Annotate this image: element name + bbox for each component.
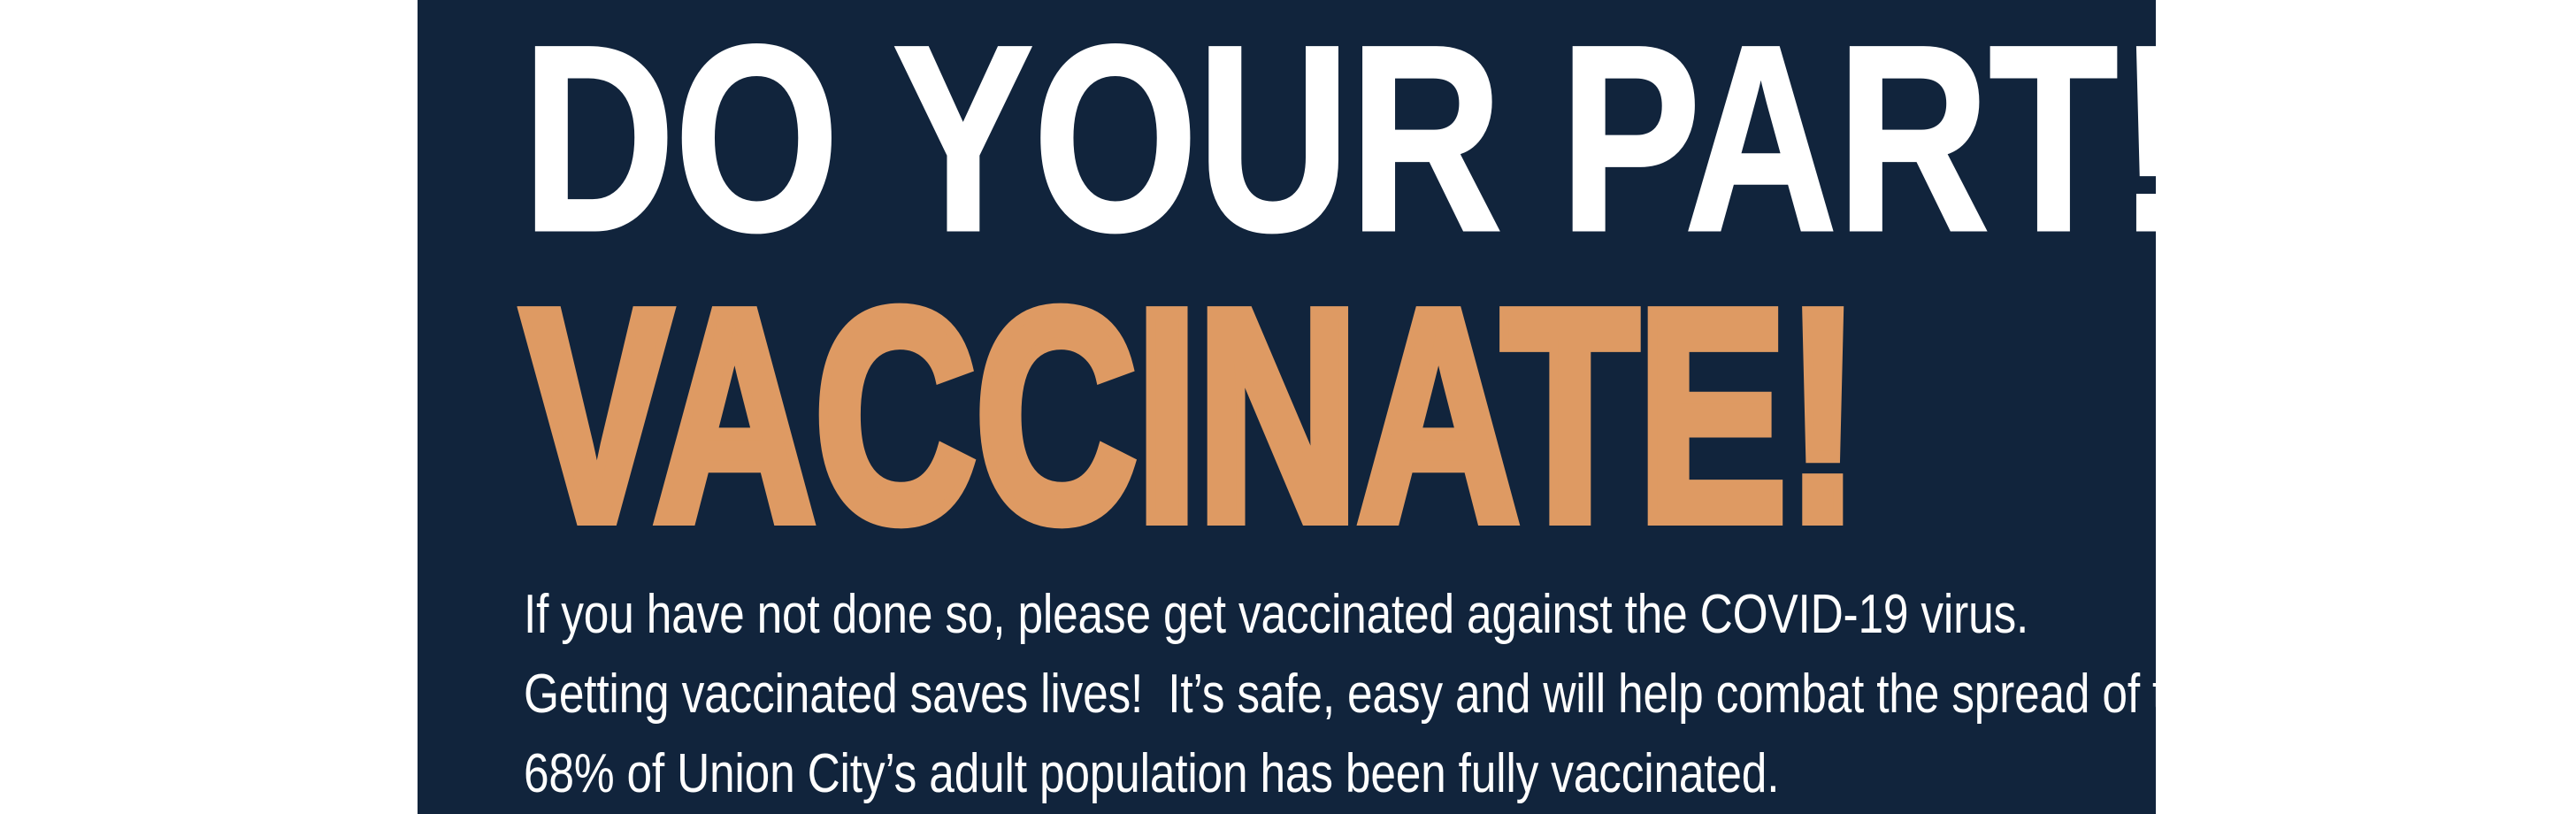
body-line-2: Getting vaccinated saves lives! It’s saf…: [524, 655, 1845, 734]
poster-canvas: DO YOUR PART! VACCINATE! If you have not…: [0, 0, 2576, 814]
body-line-1: If you have not done so, please get vacc…: [524, 575, 1845, 655]
body-copy-block: If you have not done so, please get vacc…: [524, 575, 2116, 814]
poster-navy-panel: DO YOUR PART! VACCINATE! If you have not…: [418, 0, 2156, 814]
headline-do-your-part: DO YOUR PART!: [522, 5, 2156, 271]
body-line-3: 68% of Union City’s adult population has…: [524, 734, 1845, 814]
headline-vaccinate: VACCINATE!: [522, 265, 1859, 566]
